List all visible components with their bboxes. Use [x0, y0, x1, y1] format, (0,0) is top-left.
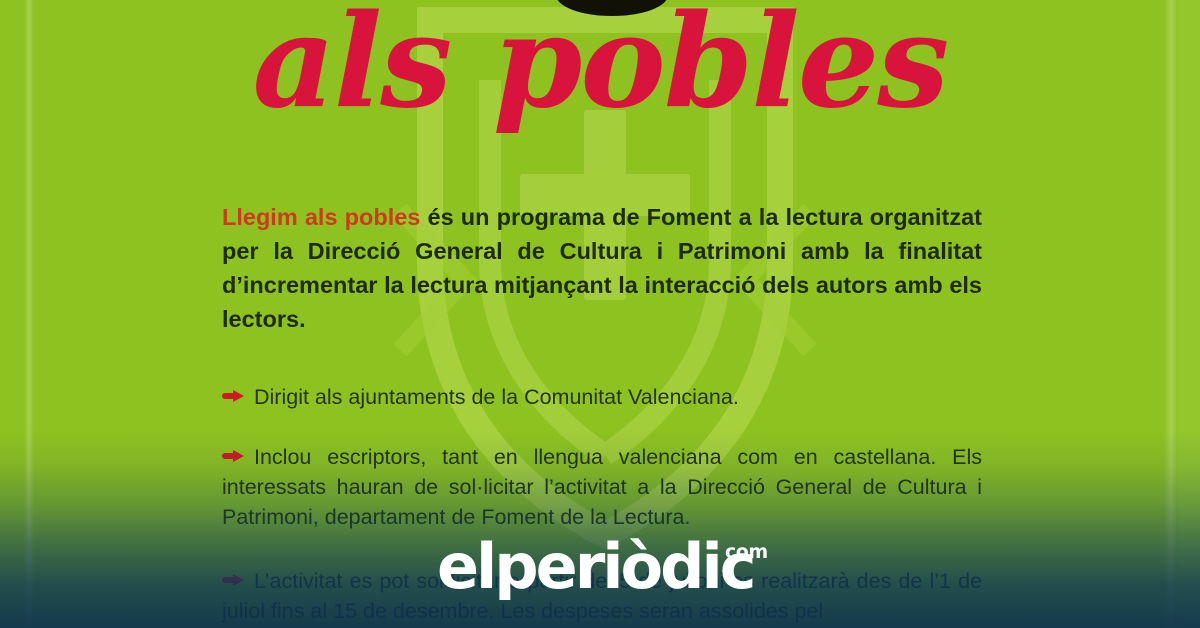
bullet-item-1-text: Dirigit als ajuntaments de la Comunitat … [254, 385, 739, 409]
bullet-item-1: Dirigit als ajuntaments de la Comunitat … [222, 382, 982, 412]
poster-body: Llegim als pobles és un programa de Fome… [222, 200, 982, 628]
bullet-item-2: Inclou escriptors, tant en llengua valen… [222, 442, 982, 532]
program-name-highlight: Llegim als pobles [222, 204, 420, 230]
background-edge-right [1178, 0, 1200, 628]
arrow-bullet-icon [222, 574, 248, 586]
bullet-item-3-text: L’activitat es pot sol·licitar a partir … [222, 569, 982, 623]
intro-paragraph: Llegim als pobles és un programa de Fome… [222, 200, 982, 336]
arrow-bullet-icon [222, 390, 248, 402]
poster-image: als pobles Llegim als pobles és un progr… [0, 0, 1200, 628]
bullet-item-3: L’activitat es pot sol·licitar a partir … [222, 566, 982, 626]
bullet-item-2-text: Inclou escriptors, tant en llengua valen… [222, 445, 982, 529]
arrow-bullet-icon [222, 450, 248, 462]
